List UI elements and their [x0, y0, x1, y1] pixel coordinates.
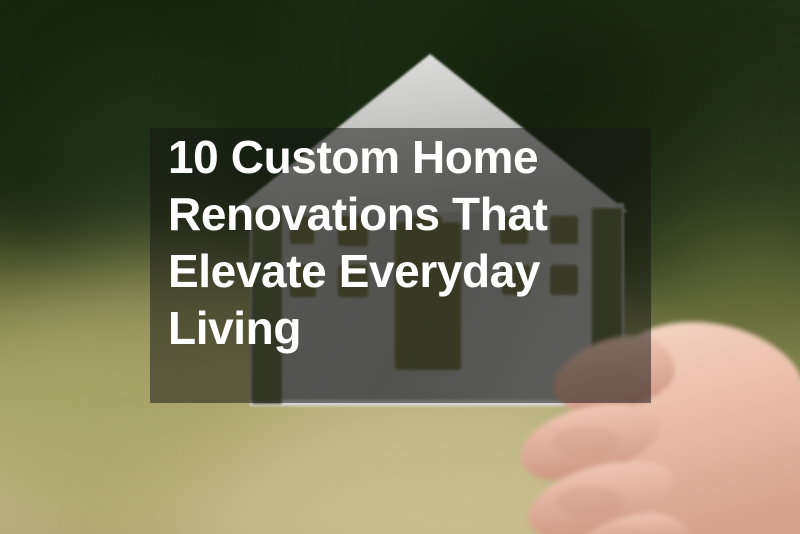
hero-image: 10 Custom Home Renovations That Elevate …: [0, 0, 800, 534]
headline-line-3: Elevate Everyday: [168, 243, 668, 300]
headline-line-2: Renovations That: [168, 186, 668, 243]
headline-line-1: 10 Custom Home: [168, 129, 668, 186]
headline: 10 Custom Home Renovations That Elevate …: [168, 129, 668, 357]
headline-line-4: Living: [168, 300, 668, 357]
